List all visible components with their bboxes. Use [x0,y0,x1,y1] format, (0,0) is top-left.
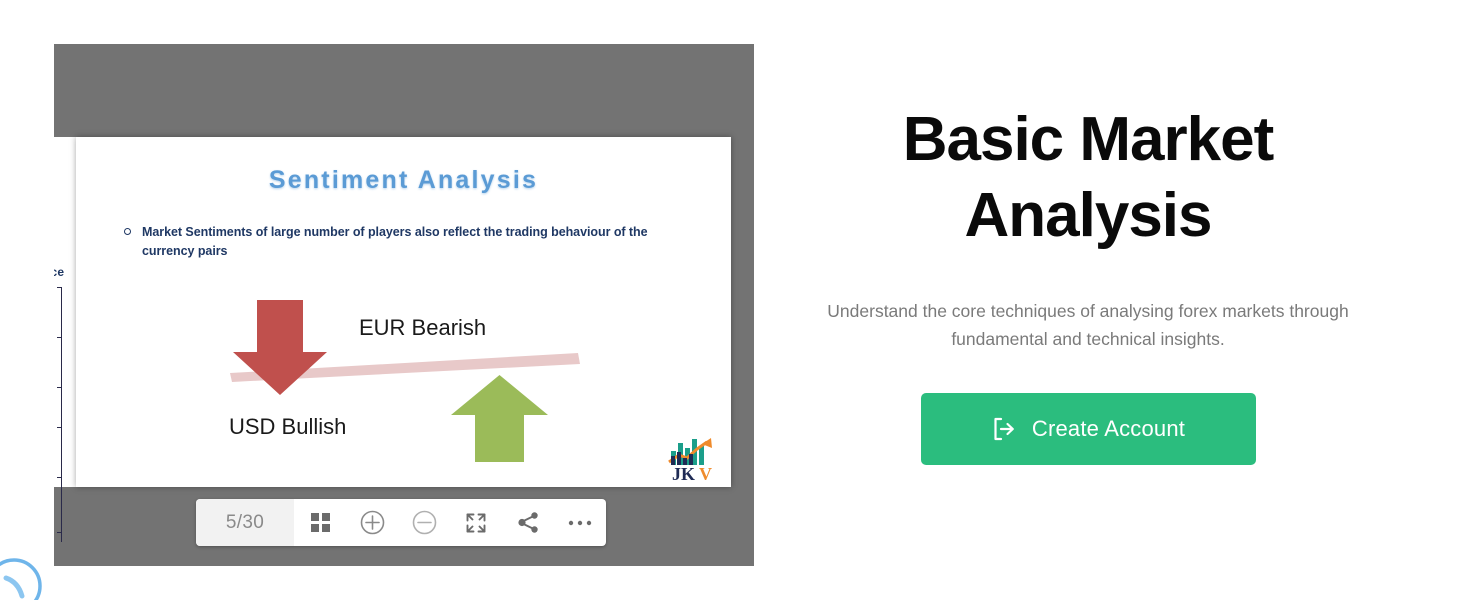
zoom-in-button[interactable] [346,499,398,546]
fullscreen-icon [465,512,487,534]
zoom-in-icon [360,510,385,535]
presentation-viewer: ice Sentiment Analysis Market Sentiments… [54,44,754,566]
sign-in-arrow-icon [991,416,1017,442]
next-slide-button[interactable] [702,284,736,334]
more-icon [568,519,592,527]
prev-slide-tick [57,532,62,533]
zoom-out-button[interactable] [398,499,450,546]
prev-slide-tick [57,337,62,338]
prev-slide-tick [57,477,62,478]
prev-slide-tick [57,387,62,388]
marketing-panel: Basic Market Analysis Understand the cor… [780,44,1396,544]
create-account-label: Create Account [1032,416,1185,442]
prev-slide-axis-line [61,287,62,542]
thumbnails-icon [310,512,331,533]
prev-slide-axis-label: ice [54,265,64,279]
prev-slide-tick [57,427,62,428]
down-arrow-icon [233,300,327,395]
prev-slide-tick [57,287,62,288]
jkv-logo-icon: JK V [663,431,721,483]
page-title: Basic Market Analysis [780,102,1396,255]
sentiment-diagram: EUR Bearish USD Bullish JK V [76,137,731,487]
page-indicator[interactable]: 5/30 [196,499,294,546]
thumbnails-button[interactable] [294,499,346,546]
svg-text:JK: JK [672,464,695,483]
up-arrow-icon [451,375,548,462]
more-options-button[interactable] [554,499,606,546]
label-usd-bullish: USD Bullish [229,414,346,440]
page-root: ice Sentiment Analysis Market Sentiments… [0,0,1473,600]
svg-text:V: V [699,464,712,483]
create-account-button[interactable]: Create Account [921,393,1256,465]
label-eur-bearish: EUR Bearish [359,315,486,341]
cta-container: Create Account [780,393,1396,465]
previous-slide-button[interactable] [71,284,105,334]
zoom-out-icon [412,510,437,535]
fullscreen-button[interactable] [450,499,502,546]
viewer-toolbar: 5/30 [196,499,606,546]
site-badge-icon[interactable] [0,556,44,600]
current-slide: Sentiment Analysis Market Sentiments of … [76,137,731,487]
page-description: Understand the core techniques of analys… [780,297,1396,354]
share-icon [517,511,540,534]
share-button[interactable] [502,499,554,546]
